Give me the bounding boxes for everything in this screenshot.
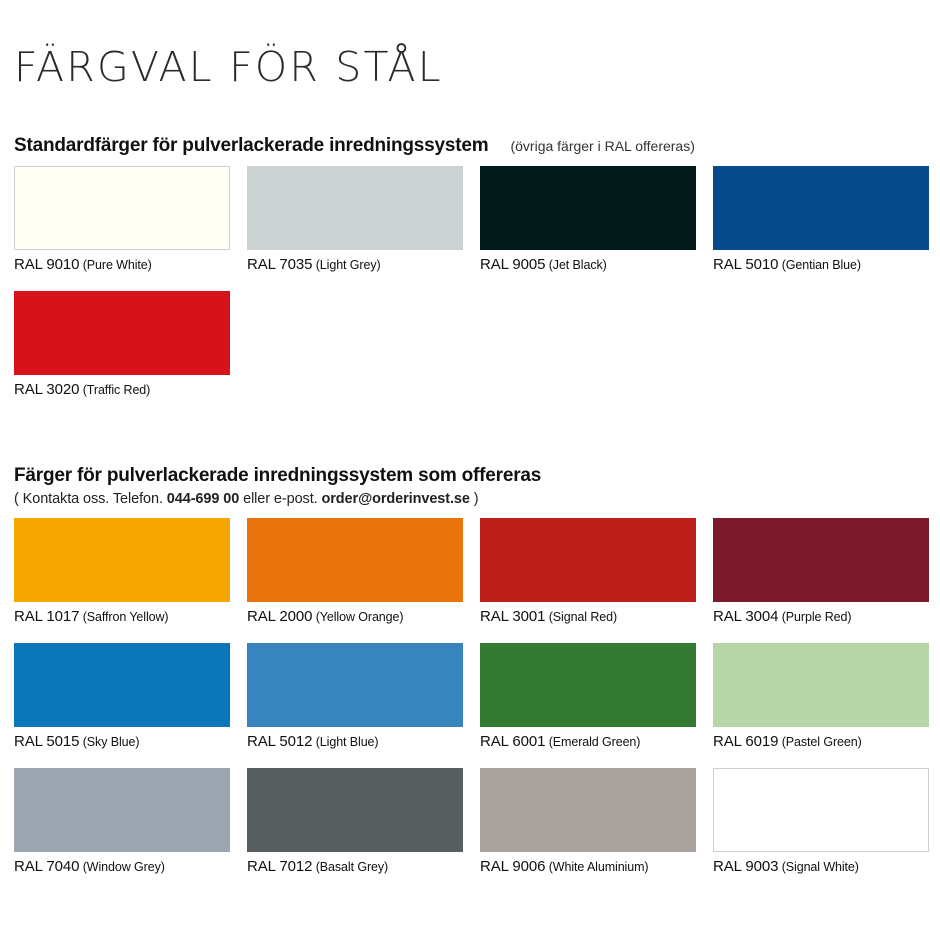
contact-phone: 044-699 00: [167, 491, 239, 507]
swatch-ral-code: RAL 5010: [713, 256, 778, 273]
swatch-grid-standard-row-2: RAL 3020 (Traffic Red): [14, 273, 926, 398]
swatch-label: RAL 6001 (Emerald Green): [480, 727, 696, 750]
swatch-ral-name: (Signal Red): [545, 610, 617, 624]
swatch-cell[interactable]: RAL 9010 (Pure White): [14, 166, 230, 273]
swatch-ral-name: (Sky Blue): [79, 735, 139, 749]
swatch-label: RAL 9005 (Jet Black): [480, 250, 696, 273]
swatch-cell[interactable]: RAL 3020 (Traffic Red): [14, 291, 230, 398]
section-offered-header: Färger för pulverlackerade inredningssys…: [14, 398, 926, 507]
color-swatch[interactable]: [247, 768, 463, 852]
swatch-label: RAL 6019 (Pastel Green): [713, 727, 929, 750]
swatch-cell[interactable]: RAL 3001 (Signal Red): [480, 518, 696, 625]
swatch-label: RAL 9010 (Pure White): [14, 250, 230, 273]
section-standard-title: Standardfärger för pulverlackerade inred…: [14, 135, 488, 157]
swatch-ral-code: RAL 6001: [480, 733, 545, 750]
swatch-ral-code: RAL 1017: [14, 608, 79, 625]
swatch-ral-name: (Signal White): [778, 860, 858, 874]
color-swatch[interactable]: [713, 166, 929, 250]
section-standard-note: (övriga färger i RAL offereras): [510, 138, 694, 154]
swatch-cell[interactable]: RAL 9006 (White Aluminium): [480, 768, 696, 875]
swatch-grid-offered-row-1: RAL 1017 (Saffron Yellow)RAL 2000 (Yello…: [14, 507, 926, 625]
swatch-label: RAL 5012 (Light Blue): [247, 727, 463, 750]
swatch-ral-name: (Saffron Yellow): [79, 610, 168, 624]
swatch-ral-name: (Emerald Green): [545, 735, 640, 749]
swatch-ral-code: RAL 9005: [480, 256, 545, 273]
swatch-cell[interactable]: RAL 5015 (Sky Blue): [14, 643, 230, 750]
swatch-ral-code: RAL 9010: [14, 256, 79, 273]
color-swatch[interactable]: [14, 518, 230, 602]
contact-email[interactable]: order@orderinvest.se: [322, 491, 470, 507]
page-title: FÄRGVAL FÖR STÅL: [14, 0, 926, 89]
swatch-ral-name: (Window Grey): [79, 860, 164, 874]
swatch-cell[interactable]: RAL 6001 (Emerald Green): [480, 643, 696, 750]
swatch-ral-name: (White Aluminium): [545, 860, 648, 874]
swatch-label: RAL 7035 (Light Grey): [247, 250, 463, 273]
swatch-label: RAL 3001 (Signal Red): [480, 602, 696, 625]
color-swatch[interactable]: [713, 768, 929, 852]
swatch-ral-code: RAL 7040: [14, 858, 79, 875]
color-swatch[interactable]: [14, 291, 230, 375]
swatch-ral-code: RAL 3020: [14, 381, 79, 398]
swatch-ral-code: RAL 6019: [713, 733, 778, 750]
swatch-label: RAL 5010 (Gentian Blue): [713, 250, 929, 273]
swatch-ral-name: (Pastel Green): [778, 735, 861, 749]
swatch-grid-offered-row-2: RAL 5015 (Sky Blue)RAL 5012 (Light Blue)…: [14, 625, 926, 750]
swatch-ral-code: RAL 3004: [713, 608, 778, 625]
swatch-label: RAL 3020 (Traffic Red): [14, 375, 230, 398]
swatch-ral-code: RAL 9003: [713, 858, 778, 875]
color-swatch[interactable]: [14, 166, 230, 250]
swatch-ral-code: RAL 7035: [247, 256, 312, 273]
color-swatch[interactable]: [480, 643, 696, 727]
swatch-ral-code: RAL 5012: [247, 733, 312, 750]
color-swatch[interactable]: [480, 768, 696, 852]
swatch-ral-name: (Gentian Blue): [778, 258, 861, 272]
swatch-label: RAL 3004 (Purple Red): [713, 602, 929, 625]
swatch-cell[interactable]: RAL 5010 (Gentian Blue): [713, 166, 929, 273]
color-swatch[interactable]: [713, 518, 929, 602]
color-swatch[interactable]: [247, 643, 463, 727]
swatch-cell[interactable]: RAL 7035 (Light Grey): [247, 166, 463, 273]
swatch-label: RAL 9006 (White Aluminium): [480, 852, 696, 875]
section-offered-colors: Färger för pulverlackerade inredningssys…: [14, 398, 926, 875]
color-swatch[interactable]: [713, 643, 929, 727]
swatch-ral-name: (Purple Red): [778, 610, 851, 624]
swatch-grid-standard-row-1: RAL 9010 (Pure White)RAL 7035 (Light Gre…: [14, 157, 926, 273]
swatch-cell[interactable]: RAL 1017 (Saffron Yellow): [14, 518, 230, 625]
swatch-label: RAL 7040 (Window Grey): [14, 852, 230, 875]
swatch-label: RAL 1017 (Saffron Yellow): [14, 602, 230, 625]
color-swatch[interactable]: [247, 518, 463, 602]
section-standard-header: Standardfärger för pulverlackerade inred…: [14, 89, 926, 157]
contact-middle: eller e-post.: [239, 491, 321, 507]
color-swatch[interactable]: [480, 166, 696, 250]
swatch-cell[interactable]: RAL 9005 (Jet Black): [480, 166, 696, 273]
swatch-grid-offered-row-3: RAL 7040 (Window Grey)RAL 7012 (Basalt G…: [14, 750, 926, 875]
contact-line: ( Kontakta oss. Telefon. 044-699 00 elle…: [14, 491, 926, 507]
swatch-ral-name: (Light Grey): [312, 258, 380, 272]
color-swatch[interactable]: [14, 768, 230, 852]
swatch-label: RAL 7012 (Basalt Grey): [247, 852, 463, 875]
swatch-cell[interactable]: RAL 6019 (Pastel Green): [713, 643, 929, 750]
swatch-ral-name: (Light Blue): [312, 735, 378, 749]
swatch-label: RAL 2000 (Yellow Orange): [247, 602, 463, 625]
contact-prefix: ( Kontakta oss. Telefon.: [14, 491, 167, 507]
section-offered-title: Färger för pulverlackerade inredningssys…: [14, 465, 926, 487]
swatch-cell[interactable]: RAL 5012 (Light Blue): [247, 643, 463, 750]
swatch-cell[interactable]: RAL 7012 (Basalt Grey): [247, 768, 463, 875]
swatch-ral-code: RAL 2000: [247, 608, 312, 625]
color-chart-page: FÄRGVAL FÖR STÅL Standardfärger för pulv…: [0, 0, 940, 940]
swatch-cell[interactable]: RAL 9003 (Signal White): [713, 768, 929, 875]
contact-suffix: ): [470, 491, 479, 507]
swatch-ral-name: (Traffic Red): [79, 383, 150, 397]
color-swatch[interactable]: [247, 166, 463, 250]
swatch-ral-code: RAL 5015: [14, 733, 79, 750]
section-standard-colors: Standardfärger för pulverlackerade inred…: [14, 89, 926, 398]
swatch-ral-code: RAL 9006: [480, 858, 545, 875]
swatch-cell[interactable]: RAL 3004 (Purple Red): [713, 518, 929, 625]
color-swatch[interactable]: [480, 518, 696, 602]
swatch-cell[interactable]: RAL 2000 (Yellow Orange): [247, 518, 463, 625]
swatch-ral-name: (Pure White): [79, 258, 151, 272]
swatch-label: RAL 9003 (Signal White): [713, 852, 929, 875]
swatch-ral-name: (Jet Black): [545, 258, 606, 272]
color-swatch[interactable]: [14, 643, 230, 727]
swatch-ral-name: (Basalt Grey): [312, 860, 388, 874]
swatch-cell[interactable]: RAL 7040 (Window Grey): [14, 768, 230, 875]
swatch-ral-code: RAL 3001: [480, 608, 545, 625]
swatch-ral-name: (Yellow Orange): [312, 610, 403, 624]
swatch-ral-code: RAL 7012: [247, 858, 312, 875]
swatch-label: RAL 5015 (Sky Blue): [14, 727, 230, 750]
